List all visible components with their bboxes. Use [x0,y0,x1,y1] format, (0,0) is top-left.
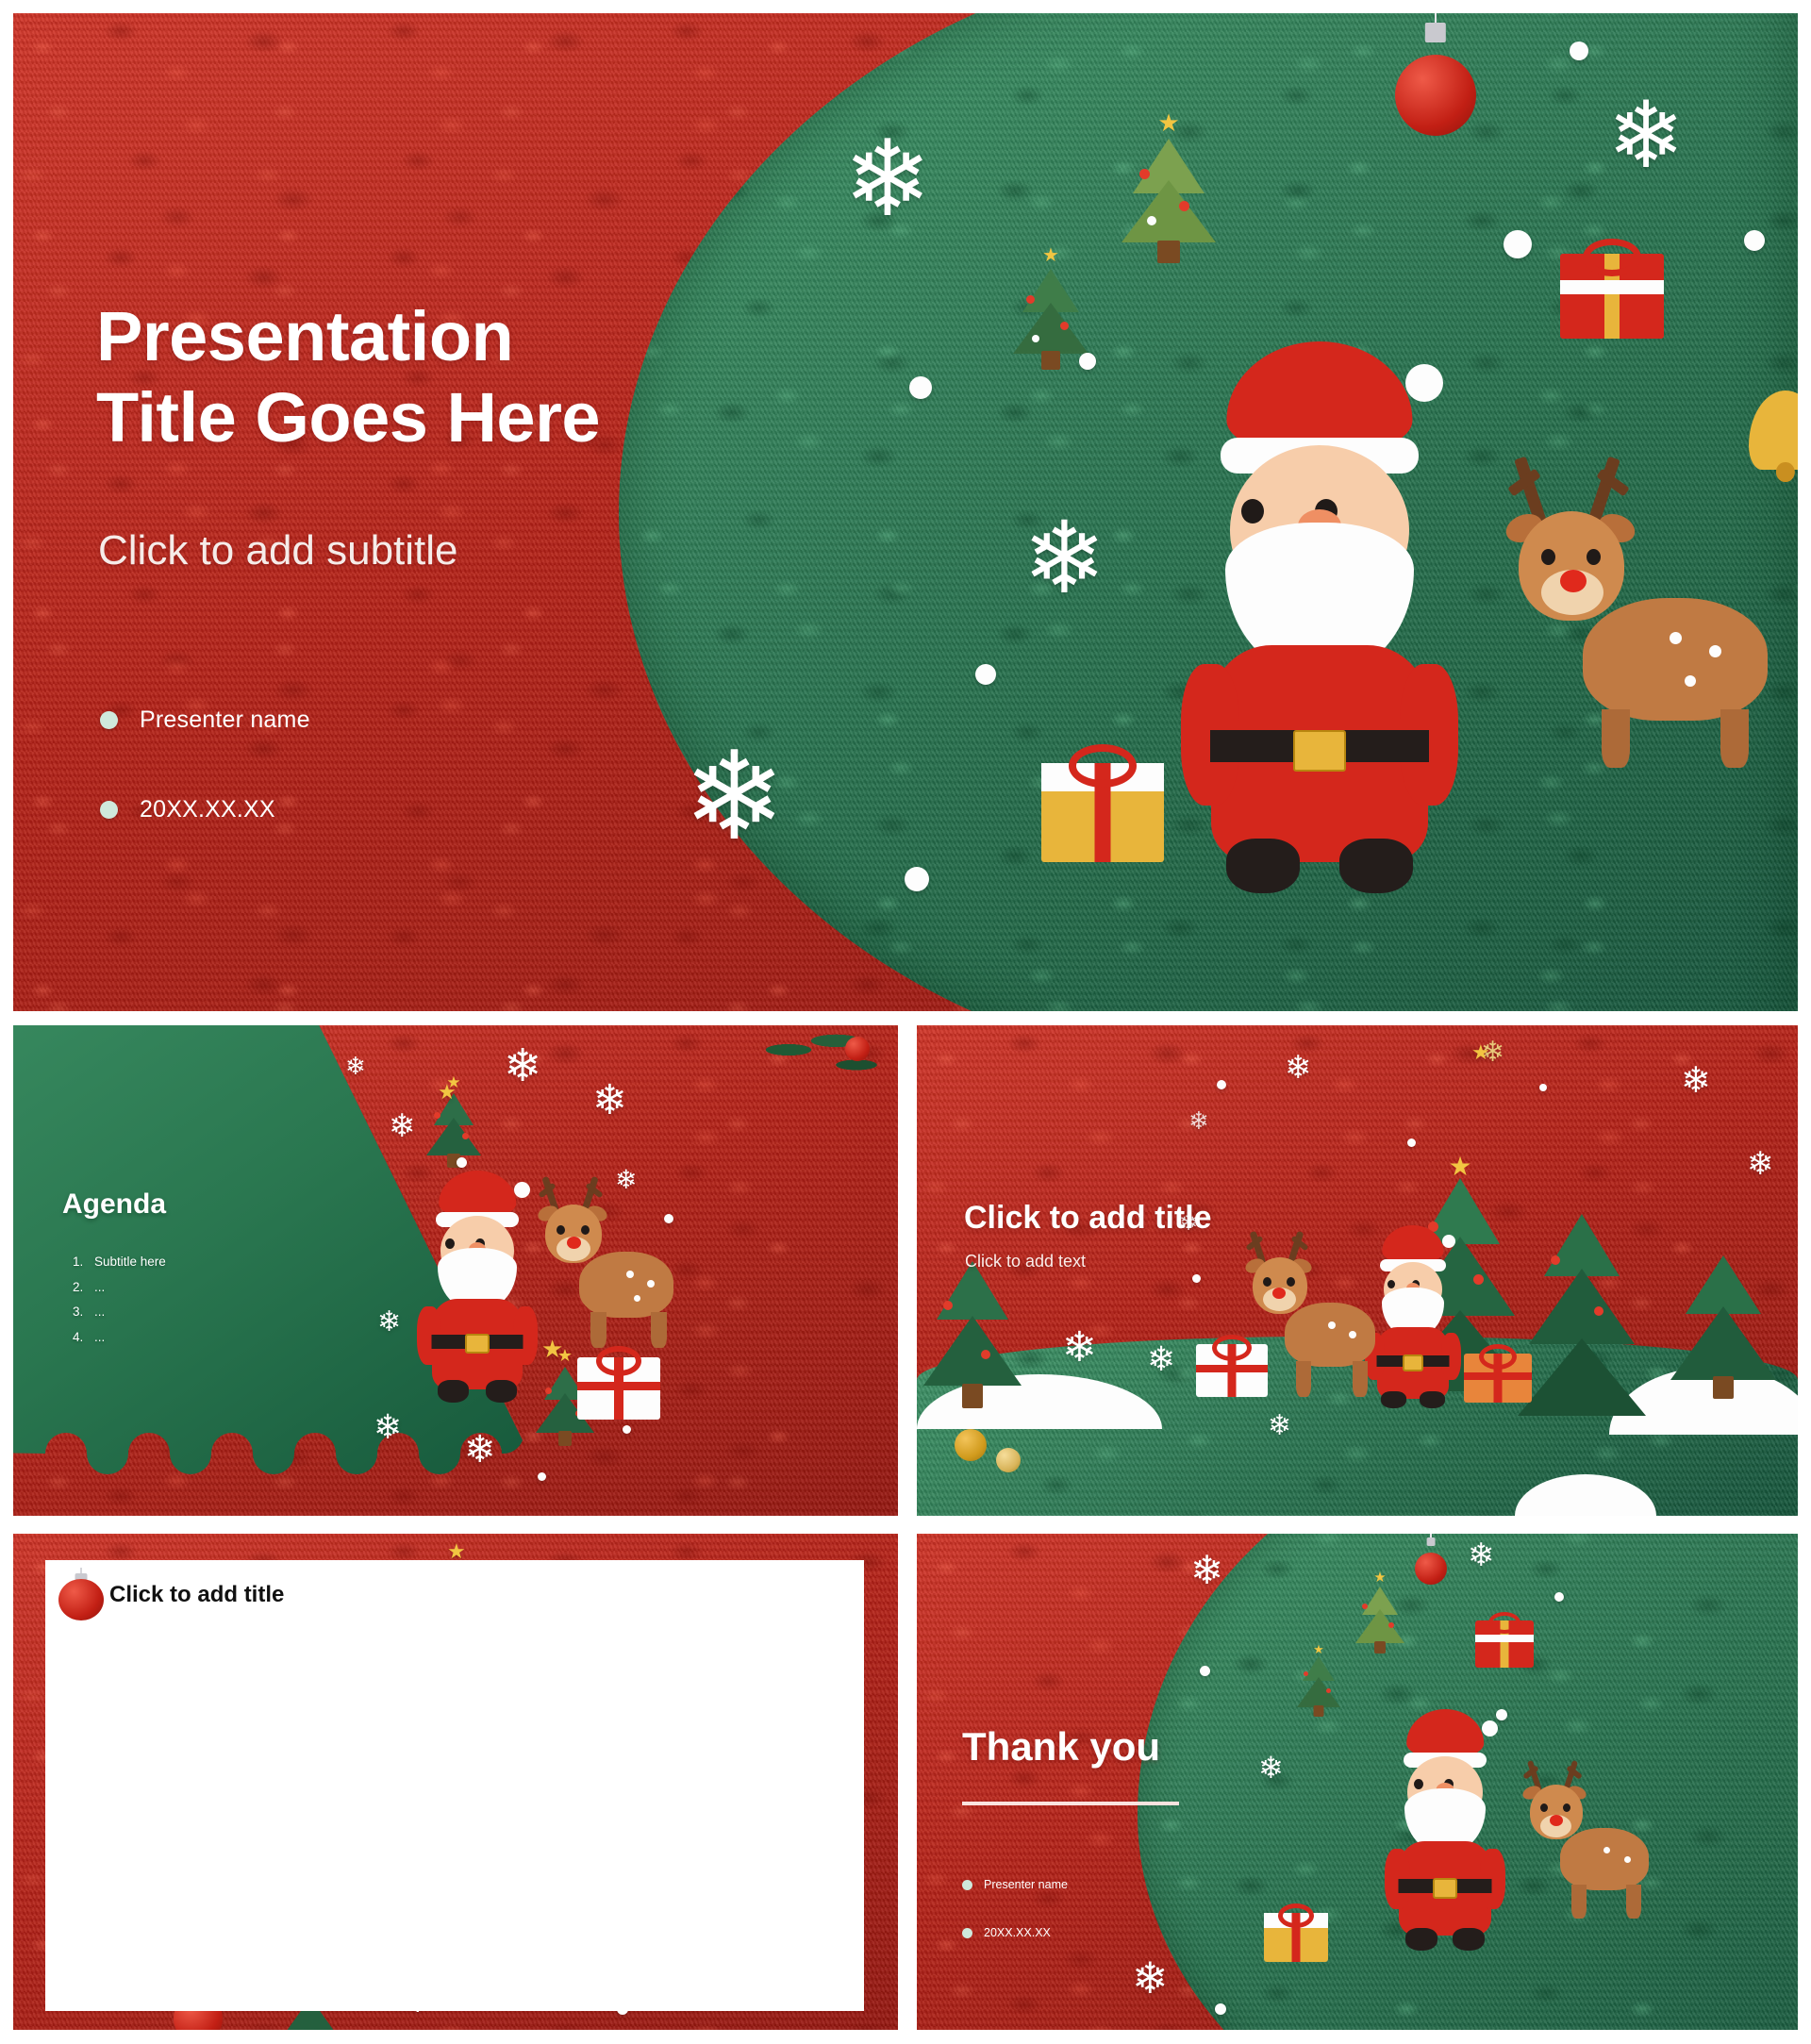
presenter-name: Presenter name [140,706,310,734]
list-item[interactable]: ... [87,1305,166,1319]
christmas-tree-icon: ★ [1098,122,1239,282]
snowflake-icon: ❄ [1132,1956,1169,2000]
bullet-dot-icon [100,801,118,819]
bullet-dot-icon [962,1880,972,1890]
gift-box-icon [577,1357,660,1420]
snow-dot [975,664,996,685]
presentation-date: 20XX.XX.XX [140,796,275,823]
snow-dot [1079,353,1096,370]
snow-dot [1192,1274,1201,1283]
content-placeholder-box[interactable] [45,1560,864,2011]
list-item[interactable]: ... [87,1331,166,1344]
snow-dot [1744,230,1765,251]
list-item[interactable]: 20XX.XX.XX [100,796,310,823]
content-title[interactable]: Click to add title [109,1582,284,1608]
snowflake-icon: ❄ [1188,1108,1209,1133]
snow-dot [1539,1084,1547,1091]
snow-dot [457,1157,467,1168]
snowflake-icon: ❄ [1268,1412,1291,1440]
gift-box-icon [1560,254,1664,339]
section-body-placeholder[interactable]: Click to add text [965,1252,1086,1271]
snowflake-icon: ❄ [592,1080,627,1122]
christmas-tree-icon [917,1261,1043,1440]
bullet-dot-icon [100,711,118,729]
tree-star-icon: ★ [1448,1154,1471,1180]
agenda-title[interactable]: Agenda [62,1188,166,1221]
title-slide[interactable]: ★ ★ [13,13,1798,1011]
list-item[interactable]: ... [87,1281,166,1294]
agenda-slide[interactable]: ★ ★ [13,1025,898,1516]
star-icon: ★ [438,1082,457,1103]
list-item[interactable]: Subtitle here [87,1255,166,1269]
text-slide[interactable]: ★ [917,1025,1798,1516]
christmas-tree-icon [1643,1252,1798,1440]
subtitle-placeholder[interactable]: Click to add subtitle [98,527,815,574]
section-title[interactable]: Click to add title [964,1200,1212,1237]
tree-star-icon: ★ [1157,110,1179,135]
santa-figure [421,1165,534,1401]
title-text[interactable]: Presentation Title Goes Here [96,296,813,458]
title-line-2: Title Goes Here [96,377,813,458]
snow-dot [1200,1666,1210,1676]
snowflake-icon: ❄ [374,1410,402,1444]
reindeer-figure [1485,457,1796,768]
snowflake-icon: ❄ [1022,508,1106,608]
snowflake-icon: ❄ [1681,1063,1711,1099]
thanks-slide[interactable]: ★ ★ [917,1534,1798,2030]
agenda-list: Subtitle here ... ... ... [58,1255,166,1355]
list-item[interactable]: 20XX.XX.XX [962,1926,1068,1939]
snowflake-icon: ❄ [1258,1753,1284,1783]
reindeer-figure [528,1176,675,1355]
snowflake-icon: ❄ [1285,1052,1312,1084]
tree-star-icon: ★ [1373,1570,1386,1585]
snowflake-icon: ❄ [464,1431,496,1469]
thanks-title[interactable]: Thank you [962,1724,1160,1770]
reindeer-figure [1513,1760,1654,1930]
list-item[interactable]: Presenter name [962,1878,1068,1891]
tree-star-icon: ★ [1042,246,1059,265]
star-icon: ★ [1471,1042,1490,1063]
ornament-ball-icon [1395,13,1476,136]
snowflake-icon: ❄ [377,1308,401,1337]
santa-figure [1368,1221,1458,1406]
content-slide[interactable]: ❄ ★ Click to add title [13,1534,898,2030]
snowflake-icon: ❄ [345,1054,366,1078]
list-item[interactable]: Presenter name [100,706,310,734]
gift-box-icon [1464,1354,1532,1403]
snow-dot [1407,1138,1416,1147]
snowflake-icon: ❄ [615,1167,637,1193]
santa-figure [1183,324,1456,890]
christmas-tree-icon: ★ [1343,1577,1417,1664]
ornament-ball-icon [955,1421,987,1461]
santa-figure [1388,1703,1502,1949]
snow-dot [1217,1080,1226,1089]
tree-star-icon: ★ [1313,1643,1324,1655]
snowflake-icon: ❄ [1190,1551,1223,1590]
gift-box-icon [1196,1344,1268,1397]
snowflake-icon: ❄ [1468,1539,1495,1571]
snow-dot [623,1425,631,1434]
christmas-tree-icon: ★ [1287,1649,1351,1726]
snowflake-icon: ❄ [1607,89,1685,181]
presenter-name: Presenter name [984,1878,1068,1891]
snowflake-icon: ❄ [1147,1342,1175,1376]
star-icon: ★ [541,1337,563,1361]
snow-dot [1496,1709,1507,1720]
snowflake-icon: ❄ [1062,1327,1097,1369]
snow-dot [1570,42,1588,60]
snow-dot [905,867,929,891]
snow-dot [1215,2003,1226,2015]
ornament-ball-icon [996,1440,1021,1472]
gift-box-icon [1041,763,1164,862]
snowflake-icon: ❄ [683,735,786,857]
snow-dot [909,376,932,399]
bullet-dot-icon [962,1928,972,1938]
snow-dot [1554,1592,1564,1602]
snow-dot [664,1214,673,1223]
ornament-ball-icon [58,1568,104,1620]
gift-box-icon [1264,1913,1328,1962]
presentation-date: 20XX.XX.XX [984,1926,1051,1939]
title-meta-list: Presenter name 20XX.XX.XX [100,706,310,886]
snow-dot [538,1472,546,1481]
ornament-ball-icon [845,1033,870,1061]
snow-dot [1504,230,1532,258]
star-icon: ★ [447,1541,466,1562]
snowflake-icon: ❄ [843,126,932,232]
title-line-1: Presentation [96,296,813,377]
thanks-meta-list: Presenter name 20XX.XX.XX [962,1878,1068,1974]
gift-box-icon [1475,1620,1534,1668]
ornament-ball-icon [1415,1534,1447,1585]
snowflake-icon: ❄ [504,1044,541,1089]
snowflake-icon: ❄ [1747,1148,1774,1180]
snowflake-icon: ❄ [389,1110,416,1142]
slide-deck: ★ ★ [0,0,1811,2044]
title-underline [962,1802,1179,1805]
